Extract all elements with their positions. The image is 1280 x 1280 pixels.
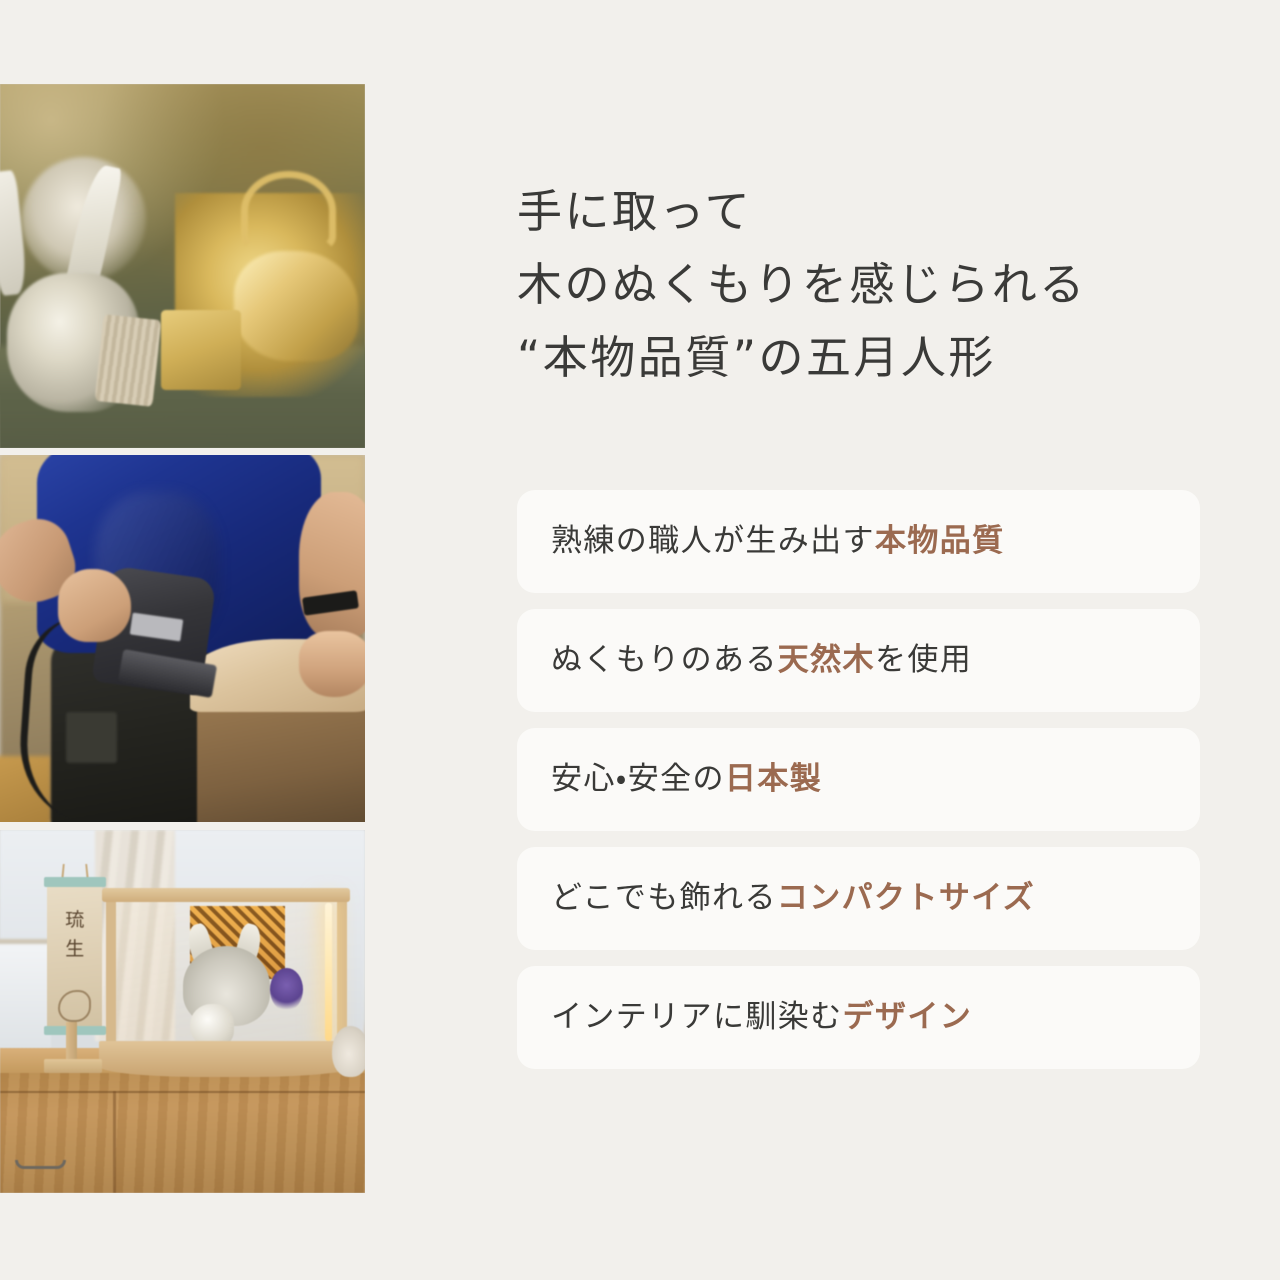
craftsman-left-hand bbox=[58, 569, 131, 642]
banner-name-char-2: 生 bbox=[65, 935, 84, 964]
feature-text-accent: コンパクトサイズ bbox=[777, 880, 1035, 916]
feature-text: 安心・安全の日本製 bbox=[551, 761, 822, 798]
photo-display-case-in-room: 琉 生 bbox=[0, 830, 365, 1193]
feature-card: インテリアに馴染むデザイン bbox=[517, 966, 1200, 1069]
gold-ornament-box bbox=[161, 310, 241, 390]
armor-plate-ribbed bbox=[94, 314, 161, 407]
feature-text-plain-after: を使用 bbox=[875, 642, 972, 678]
feature-text-plain-before: 安心・安全の bbox=[551, 761, 725, 797]
feature-text-plain-before: 熟練の職人が生み出す bbox=[551, 523, 875, 559]
feature-text-accent: デザイン bbox=[843, 999, 973, 1035]
feature-card: 安心・安全の日本製 bbox=[517, 728, 1200, 831]
headline-line-1: 手に取って bbox=[517, 176, 1200, 249]
feature-text-plain-before: ぬくもりのある bbox=[551, 642, 778, 678]
headline-line-3: “本物品質”の五月人形 bbox=[517, 322, 1200, 395]
feature-text: ぬくもりのある天然木を使用 bbox=[551, 642, 972, 679]
feature-text-plain-before: どこでも飾れる bbox=[551, 880, 777, 916]
feature-text-accent: 日本製 bbox=[725, 761, 822, 797]
feature-card: 熟練の職人が生み出す本物品質 bbox=[517, 490, 1200, 593]
feature-text: インテリアに馴染むデザイン bbox=[551, 999, 972, 1036]
craftsman-right-hand bbox=[299, 631, 365, 697]
gold-helmet-bowl bbox=[234, 251, 358, 360]
display-case-top-rail bbox=[102, 888, 350, 902]
photo-craftsman-sanding-wood bbox=[0, 455, 365, 822]
feature-text-accent: 天然木 bbox=[778, 642, 875, 678]
display-case-base bbox=[99, 1041, 355, 1077]
photo-column: 琉 生 bbox=[0, 84, 365, 1193]
product-feature-panel: 琉 生 手に取って 木のぬくもりを感じられる “本物品質”の五月人形 熟練の職人… bbox=[0, 0, 1280, 1280]
photo-craftsman-artwork bbox=[0, 455, 365, 822]
feature-card: どこでも飾れるコンパクトサイズ bbox=[517, 847, 1200, 950]
feature-text: どこでも飾れるコンパクトサイズ bbox=[551, 880, 1035, 917]
gold-crest-icon bbox=[241, 171, 336, 251]
drawer-divider bbox=[113, 1091, 116, 1193]
feature-card: ぬくもりのある天然木を使用 bbox=[517, 609, 1200, 712]
photo-armor-artwork bbox=[0, 84, 365, 448]
photo-armor-parts-workbench bbox=[0, 84, 365, 448]
page-title: 手に取って 木のぬくもりを感じられる “本物品質”の五月人形 bbox=[517, 176, 1200, 395]
snake-illustration-icon bbox=[58, 990, 91, 1023]
purple-flowers bbox=[270, 968, 303, 1012]
feature-text-accent: 本物品質 bbox=[875, 523, 1005, 559]
drawer-seam bbox=[0, 1091, 365, 1093]
photo-display-case-artwork: 琉 生 bbox=[0, 830, 365, 1193]
headline-line-2: 木のぬくもりを感じられる bbox=[517, 249, 1200, 322]
drawer-handle bbox=[15, 1160, 66, 1169]
banner-name-char-1: 琉 bbox=[65, 906, 84, 935]
craftsman-right-arm bbox=[299, 492, 365, 639]
feature-text: 熟練の職人が生み出す本物品質 bbox=[551, 523, 1005, 560]
feature-list: 熟練の職人が生み出す本物品質 ぬくもりのある天然木を使用 安心・安全の日本製 ど… bbox=[517, 490, 1200, 1069]
feature-text-plain-before: インテリアに馴染む bbox=[551, 999, 843, 1035]
banner-stand-base bbox=[44, 1059, 102, 1074]
rabbit-figurine bbox=[332, 1026, 365, 1077]
content-column: 手に取って 木のぬくもりを感じられる “本物品質”の五月人形 熟練の職人が生み出… bbox=[517, 0, 1200, 1280]
case-light-bar bbox=[325, 903, 332, 1041]
